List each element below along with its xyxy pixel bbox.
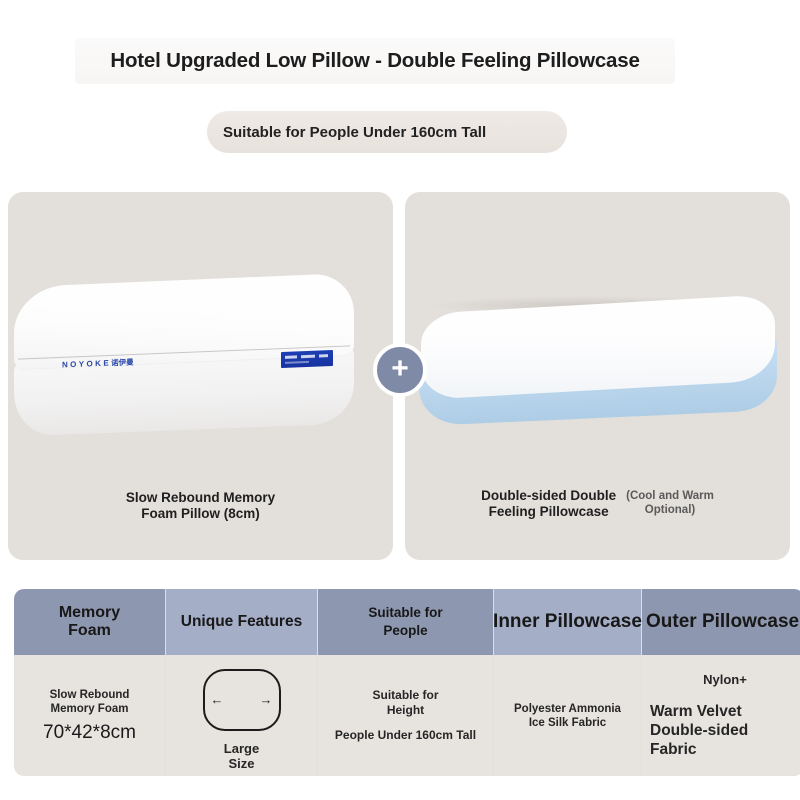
spec-header-cell: Memory Foam bbox=[14, 589, 165, 655]
spec-column-inner-pillowcase: Inner Pillowcase Polyester Ammonia Ice S… bbox=[494, 589, 642, 776]
spec-body-cell: ← → Large Size bbox=[166, 655, 317, 776]
spec-value-outer-fabric: Warm Velvet Double-sided Fabric bbox=[650, 702, 800, 759]
spec-body-cell: Suitable for Height People Under 160cm T… bbox=[318, 655, 493, 776]
spec-value-outer-base: Nylon+ bbox=[703, 672, 747, 688]
memory-foam-pillow-image: NOYOKE诺伊曼 bbox=[8, 192, 393, 482]
arrow-left-icon: ← bbox=[211, 695, 231, 705]
spec-body-cell: Polyester Ammonia Ice Silk Fabric bbox=[494, 655, 641, 776]
spec-value-size: Large Size bbox=[224, 741, 259, 771]
brand-logo-text: NOYOKE bbox=[62, 358, 111, 369]
title-band: Hotel Upgraded Low Pillow - Double Feeli… bbox=[75, 38, 675, 84]
pillowcase-image bbox=[405, 192, 790, 482]
spec-header-cell: Unique Features bbox=[166, 589, 317, 655]
page-title: Hotel Upgraded Low Pillow - Double Feeli… bbox=[110, 49, 639, 73]
spec-header-text: Suitable for People bbox=[368, 604, 442, 640]
pillowcase-shape bbox=[419, 304, 777, 434]
spec-column-unique-features: Unique Features ← → Large Size bbox=[166, 589, 318, 776]
pillow-shape: NOYOKE诺伊曼 bbox=[14, 280, 354, 435]
product-infographic: Hotel Upgraded Low Pillow - Double Feeli… bbox=[0, 0, 800, 800]
spec-header-text: Outer Pillowcase bbox=[646, 613, 799, 631]
arrow-right-icon: → bbox=[253, 695, 273, 705]
spec-header-cell: Suitable for People bbox=[318, 589, 493, 655]
spec-column-memory-foam: Memory Foam Slow Rebound Memory Foam 70*… bbox=[14, 589, 166, 776]
plus-icon: + bbox=[373, 343, 427, 397]
card-caption-right: Double-sided Double Feeling Pillowcase (… bbox=[405, 488, 790, 519]
tag-stripe bbox=[285, 361, 309, 364]
specification-table: Memory Foam Slow Rebound Memory Foam 70*… bbox=[14, 589, 800, 776]
spec-header-text: Memory Foam bbox=[59, 604, 120, 640]
card-caption-left: Slow Rebound Memory Foam Pillow (8cm) bbox=[8, 490, 393, 521]
brand-logo-cn: 诺伊曼 bbox=[111, 358, 134, 368]
spec-value-material: Slow Rebound Memory Foam bbox=[50, 688, 130, 716]
card-caption-text: Slow Rebound Memory Foam Pillow (8cm) bbox=[126, 490, 275, 521]
spec-body-cell: Nylon+ Warm Velvet Double-sided Fabric bbox=[642, 655, 800, 776]
subtitle-text: Suitable for People Under 160cm Tall bbox=[223, 124, 486, 141]
product-label-tag bbox=[281, 350, 333, 368]
tag-stripe bbox=[285, 355, 297, 358]
subtitle-pill: Suitable for People Under 160cm Tall bbox=[207, 111, 567, 153]
card-caption-text: Double-sided Double Feeling Pillowcase bbox=[481, 488, 616, 519]
tag-stripe bbox=[319, 354, 328, 357]
spec-header-text: Inner Pillowcase bbox=[493, 613, 642, 631]
spec-value-height-label: Suitable for Height bbox=[372, 688, 438, 718]
spec-column-outer-pillowcase: Outer Pillowcase Nylon+ Warm Velvet Doub… bbox=[642, 589, 800, 776]
product-card-pillowcase[interactable]: Double-sided Double Feeling Pillowcase (… bbox=[405, 192, 790, 560]
plus-symbol: + bbox=[391, 356, 409, 382]
spec-value-height-range: People Under 160cm Tall bbox=[335, 728, 476, 743]
pillow-size-icon: ← → bbox=[203, 669, 281, 731]
spec-header-cell: Outer Pillowcase bbox=[642, 589, 800, 655]
spec-header-text: Unique Features bbox=[181, 613, 302, 631]
spec-value-dimensions: 70*42*8cm bbox=[43, 722, 136, 744]
tag-stripe bbox=[301, 355, 315, 359]
product-card-memory-foam[interactable]: NOYOKE诺伊曼 Slow Rebound Memory Foam Pillo… bbox=[8, 192, 393, 560]
card-caption-note: (Cool and Warm Optional) bbox=[626, 489, 714, 517]
spec-header-cell: Inner Pillowcase bbox=[494, 589, 641, 655]
spec-value-inner-fabric: Polyester Ammonia Ice Silk Fabric bbox=[514, 702, 621, 730]
spec-body-cell: Slow Rebound Memory Foam 70*42*8cm bbox=[14, 655, 165, 776]
spec-column-suitable-people: Suitable for People Suitable for Height … bbox=[318, 589, 494, 776]
